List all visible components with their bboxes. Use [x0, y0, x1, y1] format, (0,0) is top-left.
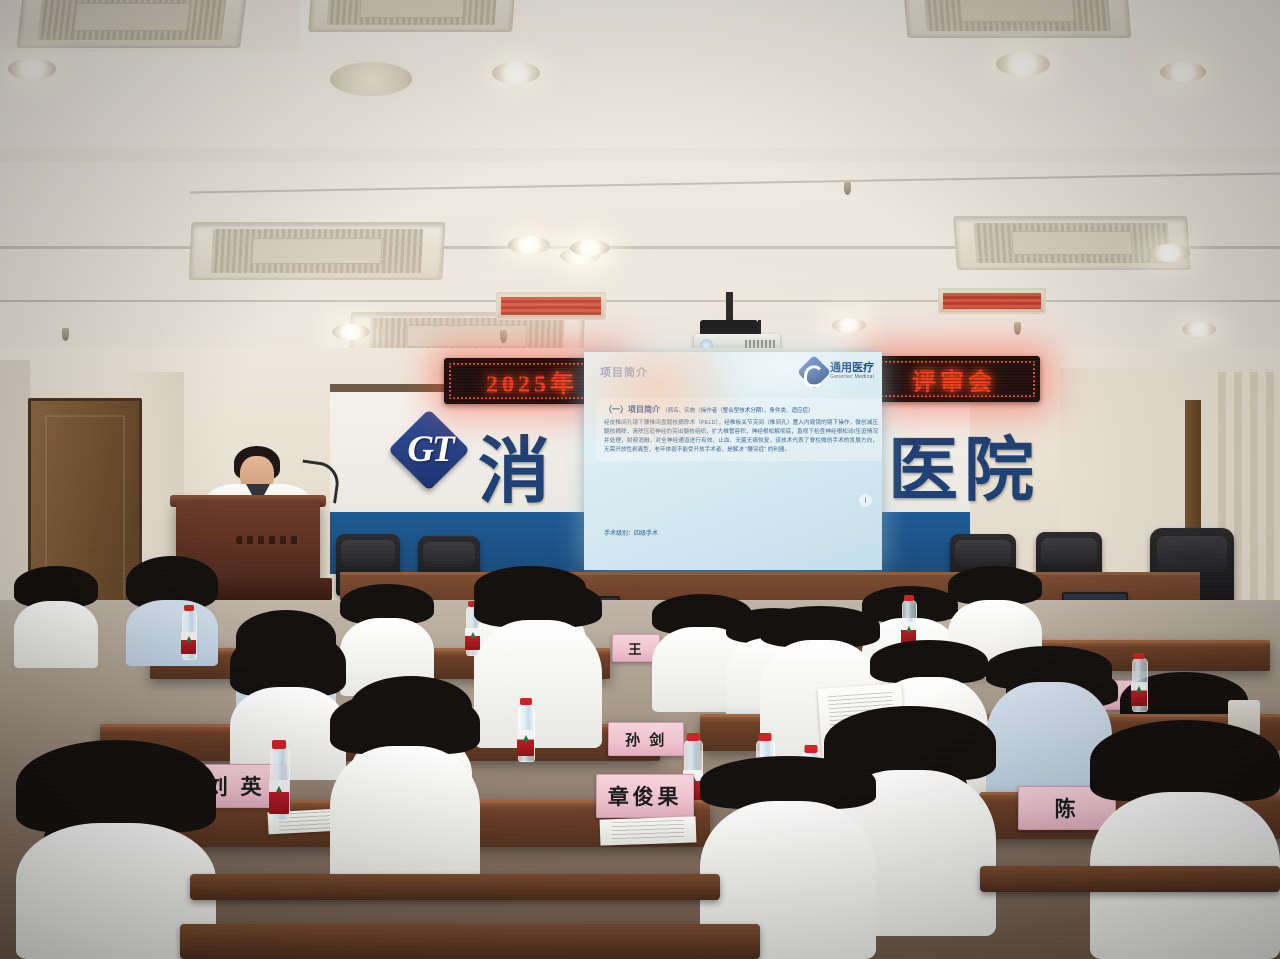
recessed-downlight [996, 52, 1050, 76]
conference-room-photo: GT 消 医院 2025年 评审会 项目简介 通用医疗 Genertec Med… [0, 0, 1280, 959]
wall-hospital-text-left: 消 [478, 412, 556, 517]
sprinkler-head [500, 330, 507, 343]
placard-zhang-junguo-text: 章俊果 [608, 781, 682, 811]
podium-speaker-grille [236, 536, 300, 544]
recessed-downlight [492, 62, 540, 84]
ac-cassette-unit [953, 216, 1191, 270]
ac-cassette-unit [308, 0, 516, 32]
placard-chen-text: 陈 [1055, 793, 1080, 823]
recessed-downlight [332, 324, 370, 340]
attendee [1090, 720, 1280, 959]
water-bottle [518, 704, 533, 760]
placard-zhang-junguo: 章俊果 [596, 774, 694, 818]
projection-screen: 项目简介 通用医疗 Genertec Medical （一）项目简介 （病名、实… [584, 352, 882, 570]
recessed-downlight [1148, 244, 1190, 262]
bench-backrest [190, 874, 720, 900]
recessed-downlight [832, 318, 866, 333]
gt-logo-letters: GT [393, 428, 467, 471]
placard-wang-text: 王 [628, 639, 643, 658]
recessed-downlight [8, 58, 56, 80]
water-bottle [270, 748, 288, 818]
document-handout [600, 816, 697, 845]
attendee [14, 566, 98, 668]
led-sign-right: 评审会 [868, 356, 1040, 402]
attendee [126, 556, 218, 666]
recessed-downlight [508, 236, 550, 254]
wall-hospital-text: 医院 [888, 414, 1040, 515]
ceiling [0, 0, 1280, 360]
attendee [474, 580, 602, 748]
water-bottle [1132, 658, 1146, 710]
attendee [330, 690, 480, 890]
placard-sun-jian-text: 孙 剑 [625, 729, 667, 750]
slide-footer: 手术级别：四级手术 [604, 528, 658, 537]
recessed-downlight [570, 240, 610, 256]
bench-backrest [180, 924, 760, 959]
ac-cassette-unit [903, 0, 1132, 38]
info-icon: i [859, 494, 872, 507]
gt-diamond-logo: GT [393, 414, 467, 488]
bench-backrest [980, 866, 1280, 892]
sprinkler-head [844, 182, 851, 195]
recessed-downlight [1182, 322, 1216, 337]
ac-cassette-unit [188, 222, 445, 280]
ceiling-diffuser [330, 62, 412, 96]
recessed-downlight [1160, 62, 1206, 82]
return-air-vent [496, 292, 606, 320]
ac-cassette-unit [16, 0, 248, 48]
water-bottle [182, 610, 195, 658]
return-air-vent [938, 288, 1046, 314]
sprinkler-head [62, 328, 69, 341]
placard-sun-jian: 孙 剑 [608, 722, 684, 756]
sprinkler-head [1014, 322, 1021, 335]
